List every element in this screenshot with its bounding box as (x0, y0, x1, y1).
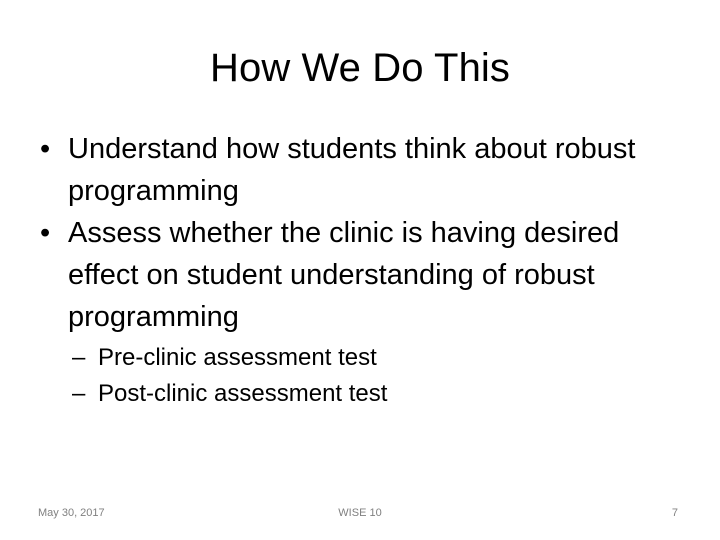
slide-canvas: How We Do This • Understand how students… (0, 0, 720, 540)
sub-bullet-list: – Pre-clinic assessment test – Post-clin… (36, 340, 684, 412)
list-item: • Assess whether the clinic is having de… (36, 212, 684, 338)
bullet-dash-icon: – (72, 376, 94, 412)
slide-footer: May 30, 2017 WISE 10 7 (0, 505, 720, 525)
sub-list-item-label: Post-clinic assessment test (98, 380, 387, 407)
list-item-label: Understand how students think about robu… (68, 128, 663, 212)
page-title: How We Do This (0, 44, 720, 92)
bullet-list: • Understand how students think about ro… (36, 128, 684, 412)
sub-list-item-label: Pre-clinic assessment test (98, 344, 377, 371)
footer-center-label: WISE 10 (0, 505, 720, 521)
bullet-dash-icon: – (72, 340, 94, 376)
list-item-label: Assess whether the clinic is having desi… (68, 212, 628, 338)
list-item: • Understand how students think about ro… (36, 128, 684, 212)
bullet-dot-icon: • (40, 212, 60, 254)
sub-list-item: – Pre-clinic assessment test (36, 340, 684, 376)
bullet-dot-icon: • (40, 128, 60, 170)
footer-page-number: 7 (672, 505, 678, 521)
sub-list-item: – Post-clinic assessment test (36, 376, 684, 412)
